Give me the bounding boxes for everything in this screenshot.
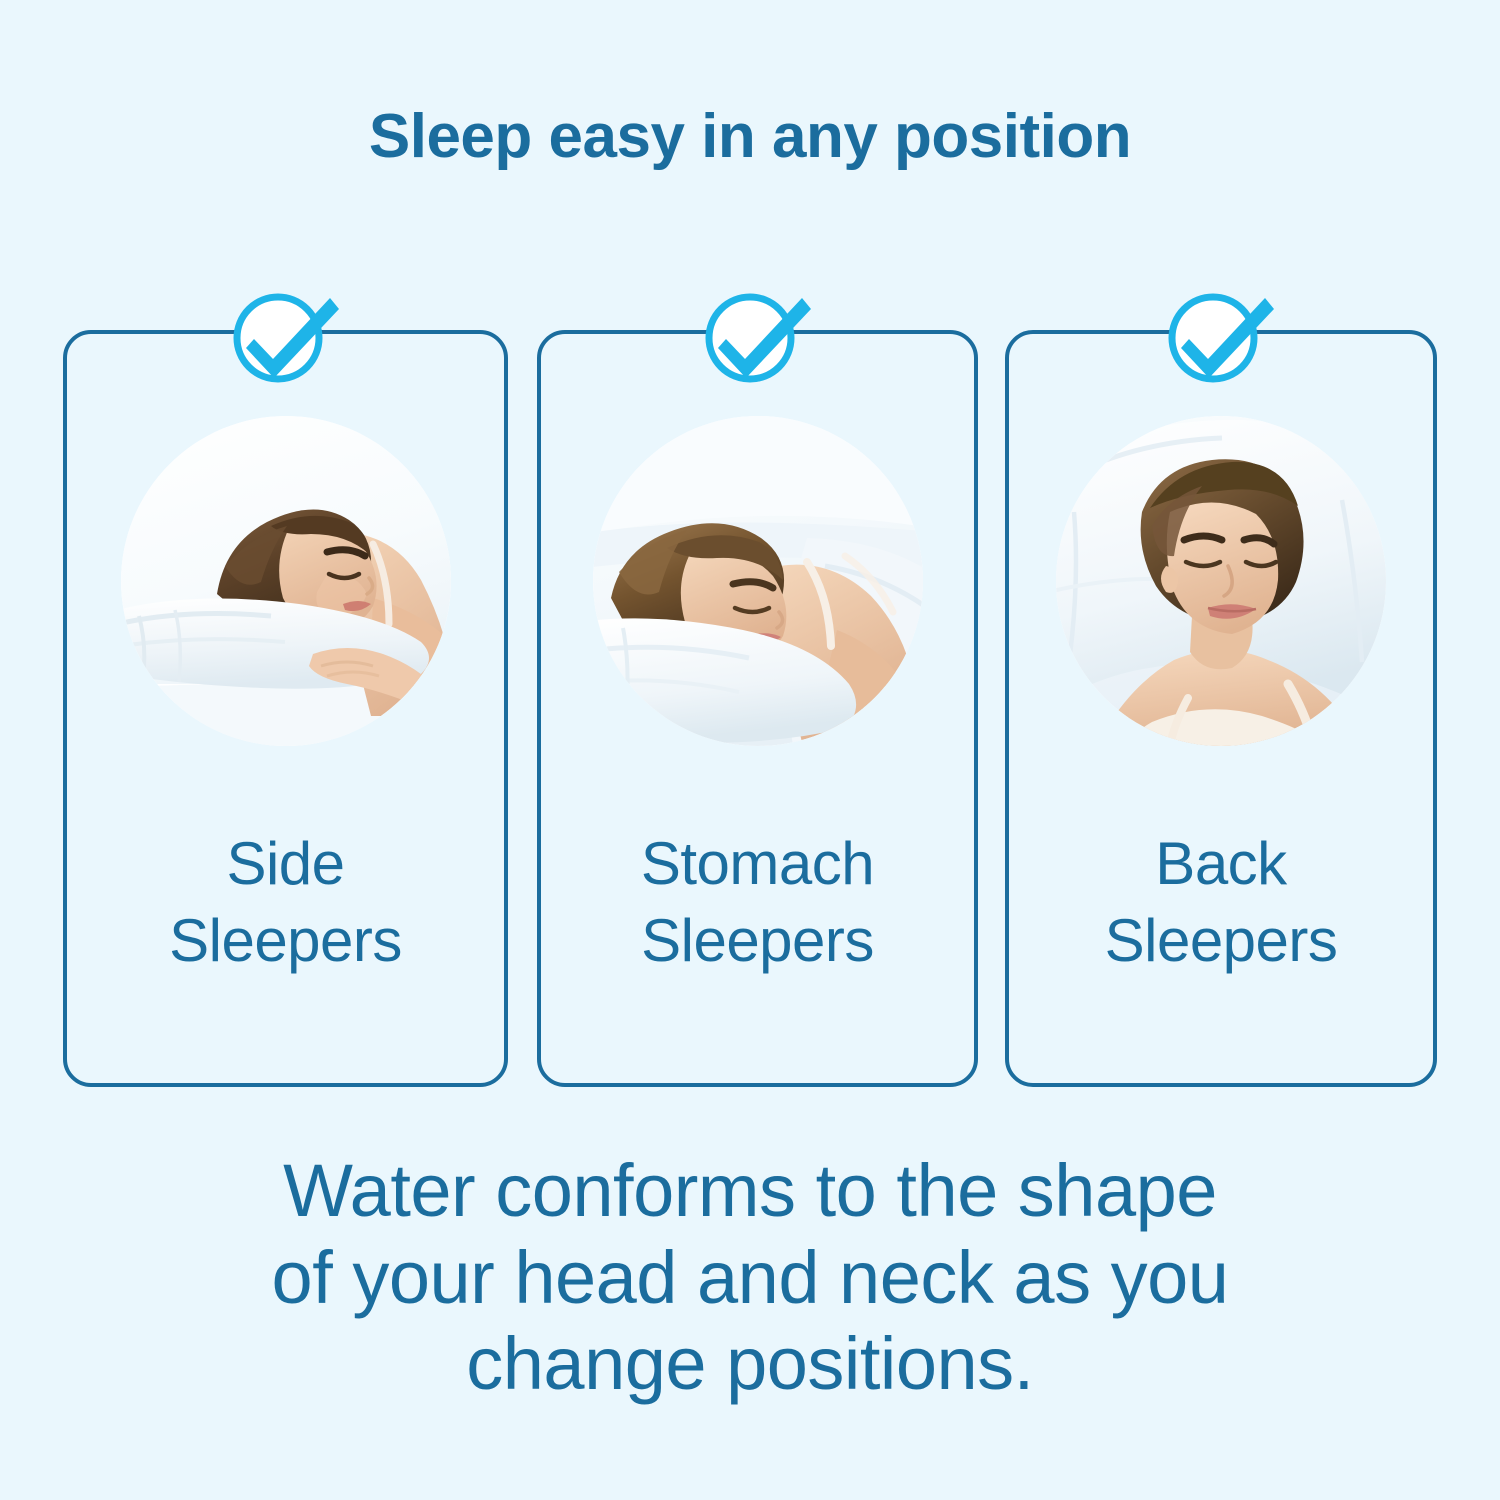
side-sleeper-photo xyxy=(121,416,451,746)
page-title: Sleep easy in any position xyxy=(0,104,1500,169)
check-circle-icon xyxy=(1162,282,1280,387)
caption-line-1: Water conforms to the shape xyxy=(0,1148,1500,1235)
check-circle-icon xyxy=(699,282,817,387)
check-circle-icon xyxy=(227,282,345,387)
caption-block: Water conforms to the shape of your head… xyxy=(0,1148,1500,1408)
card-label-line1: Back xyxy=(1155,830,1286,897)
card-label-back: Back Sleepers xyxy=(1009,826,1433,980)
sleep-position-card-row: Side Sleepers xyxy=(63,330,1437,1087)
caption-line-2: of your head and neck as you xyxy=(0,1235,1500,1322)
infographic-root: Sleep easy in any position xyxy=(0,0,1500,1500)
card-label-line2: Sleepers xyxy=(1009,903,1433,980)
card-label-line2: Sleepers xyxy=(67,903,504,980)
back-sleeper-photo xyxy=(1056,416,1386,746)
card-label-line1: Stomach xyxy=(641,830,874,897)
sleep-position-card-side[interactable]: Side Sleepers xyxy=(63,330,508,1087)
sleep-position-card-stomach[interactable]: Stomach Sleepers xyxy=(537,330,978,1087)
sleep-position-card-back[interactable]: Back Sleepers xyxy=(1005,330,1437,1087)
caption-line-3: change positions. xyxy=(0,1321,1500,1408)
card-label-line2: Sleepers xyxy=(541,903,974,980)
card-label-line1: Side xyxy=(226,830,344,897)
card-label-stomach: Stomach Sleepers xyxy=(541,826,974,980)
stomach-sleeper-photo xyxy=(593,416,923,746)
card-label-side: Side Sleepers xyxy=(67,826,504,980)
